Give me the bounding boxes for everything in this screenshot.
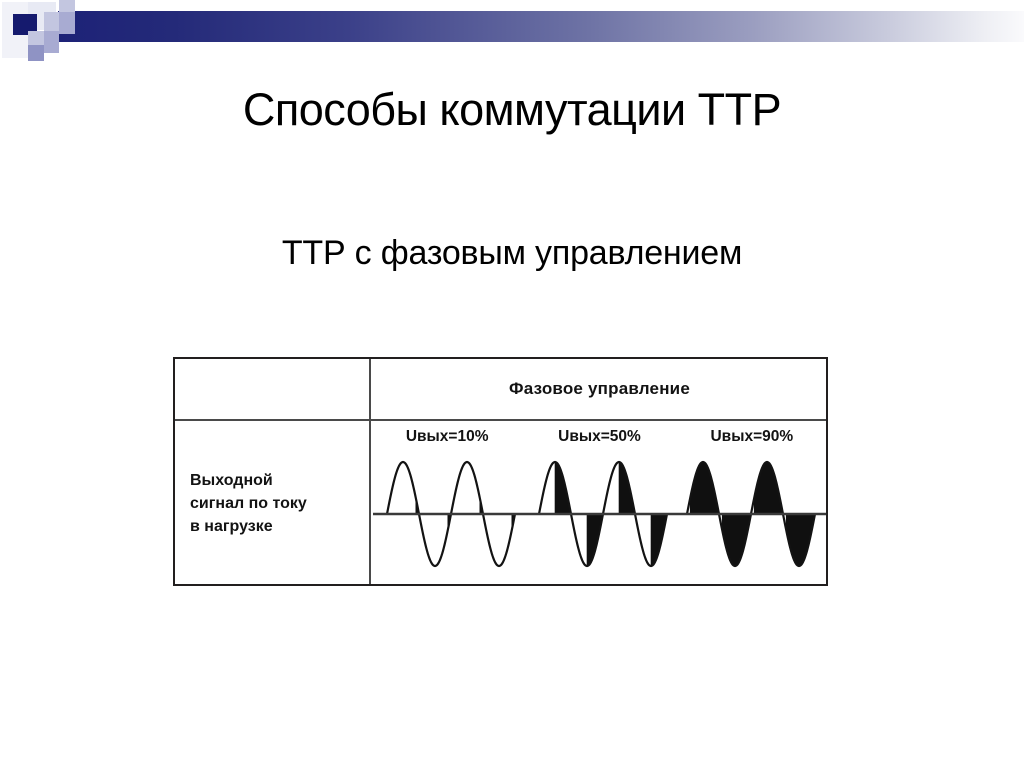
duty-label-50-text: Uвых=50%: [558, 428, 641, 445]
row-label-line-1: Выходной: [190, 469, 369, 492]
phase-control-diagram: Фазовое управление Выходной сигнал по то…: [173, 357, 828, 586]
decor-square-slate: [28, 45, 44, 61]
decor-square-mid-lower: [44, 31, 59, 53]
table-header-label: Фазовое управление: [509, 379, 690, 399]
row-label-line-3: в нагрузке: [190, 515, 369, 538]
slide-header-decoration: [0, 0, 1024, 70]
waveform-chart: [371, 447, 828, 582]
duty-label-10-text: Uвых=10%: [406, 428, 489, 445]
table-header-cell: Фазовое управление: [371, 359, 828, 419]
duty-label-90-text: Uвых=90%: [710, 428, 793, 445]
duty-label-90: Uвых=90%: [676, 428, 828, 446]
row-label-line-2: сигнал по току: [190, 492, 369, 515]
duty-label-50: Uвых=50%: [523, 428, 675, 446]
header-gradient-bar: [58, 11, 1024, 42]
waveform-cell: Uвых=10% Uвых=50% Uвых=90%: [371, 421, 828, 586]
page-subtitle: ТТР с фазовым управлением: [0, 232, 1024, 274]
table-row-label-cell: Выходной сигнал по току в нагрузке: [175, 421, 369, 586]
page-title: Способы коммутации ТТР: [0, 83, 1024, 137]
decor-square-mid-upper: [59, 12, 75, 34]
duty-label-row: Uвых=10% Uвых=50% Uвых=90%: [371, 425, 828, 449]
decor-square-lavender-top: [59, 0, 75, 12]
duty-label-10: Uвых=10%: [371, 428, 523, 446]
